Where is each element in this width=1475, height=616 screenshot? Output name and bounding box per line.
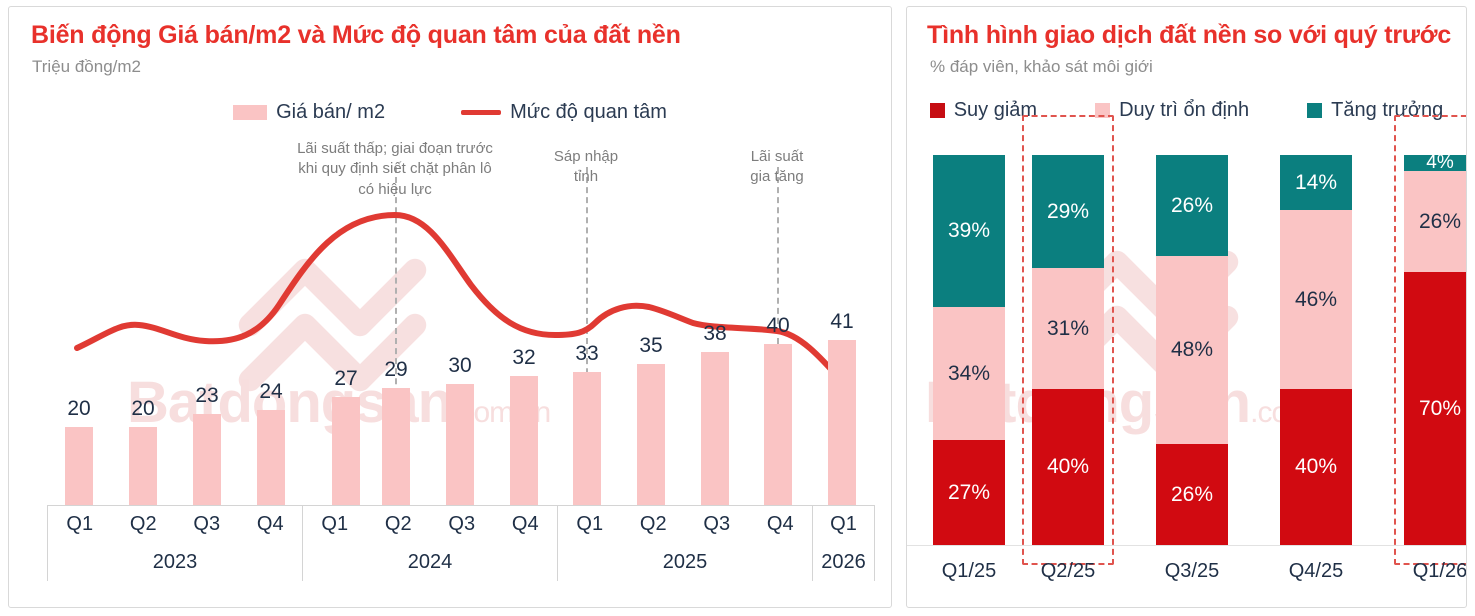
segment-suy-giam-q2-25[interactable]: 40% — [1032, 389, 1104, 545]
bar-q1-2024[interactable] — [332, 397, 360, 505]
year-group-2024: Q1 Q2 Q3 Q4 2024 — [302, 505, 557, 581]
bar-value-q2-2023: 20 — [113, 397, 173, 421]
quarter-label: Q4 — [749, 513, 813, 536]
segment-tang-truong-q4-25[interactable]: 14% — [1280, 155, 1352, 210]
bar-value-q3-2025: 38 — [685, 322, 745, 346]
bar-q4-2023[interactable] — [257, 410, 285, 505]
bar-q4-2024[interactable] — [510, 376, 538, 505]
segment-suy-giam-q1-26[interactable]: 70% — [1404, 272, 1467, 545]
x-label-q2-25: Q2/25 — [1013, 560, 1123, 583]
x-label-q1-25: Q1/25 — [914, 560, 1024, 583]
square-swatch-icon-tang-truong — [1307, 103, 1322, 118]
bar-value-q1-2025: 33 — [557, 342, 617, 366]
right-chart-legend: Suy giảm Duy trì ổn định Tăng trưởng — [907, 99, 1466, 122]
quarter-label: Q1 — [48, 513, 112, 536]
segment-suy-giam-q1-25[interactable]: 27% — [933, 440, 1005, 545]
right-plot-area: 39% 34% 27% 29% 31% 40% 26% 48% 26% 14% … — [907, 135, 1466, 545]
segment-tang-truong-q3-25[interactable]: 26% — [1156, 155, 1228, 256]
stacked-bar-q1-26[interactable]: 4% 26% 70% — [1404, 155, 1467, 545]
quarter-label: Q1 — [813, 513, 874, 536]
bar-value-q3-2023: 23 — [177, 384, 237, 408]
dashboard-root: Biến động Giá bán/m2 và Mức độ quan tâm … — [0, 0, 1475, 616]
year-group-2025: Q1 Q2 Q3 Q4 2025 — [557, 505, 812, 581]
segment-tang-truong-q1-25[interactable]: 39% — [933, 155, 1005, 307]
bar-q3-2025[interactable] — [701, 352, 729, 505]
x-label-q3-25: Q3/25 — [1137, 560, 1247, 583]
bar-q3-2024[interactable] — [446, 384, 474, 505]
segment-duy-tri-q4-25[interactable]: 46% — [1280, 210, 1352, 389]
right-chart-subtitle: % đáp viên, khảo sát môi giới — [930, 57, 1466, 77]
bar-value-q2-2024: 29 — [366, 358, 426, 382]
quarter-label: Q2 — [367, 513, 431, 536]
bar-value-q1-2026: 41 — [812, 310, 872, 334]
quarter-label: Q2 — [112, 513, 176, 536]
quarter-label: Q2 — [622, 513, 686, 536]
square-swatch-icon-suy-giam — [930, 103, 945, 118]
legend-label-duy-tri-on-dinh: Duy trì ổn định — [1119, 99, 1249, 122]
bar-value-q4-2024: 32 — [494, 346, 554, 370]
stacked-bar-q3-25[interactable]: 26% 48% 26% — [1156, 155, 1228, 545]
year-label-2023: 2023 — [48, 544, 302, 582]
bar-q2-2025[interactable] — [637, 364, 665, 505]
bar-q1-2026[interactable] — [828, 340, 856, 505]
segment-tang-truong-q2-25[interactable]: 29% — [1032, 155, 1104, 268]
right-chart-title: Tình hình giao dịch đất nền so với quý t… — [927, 21, 1466, 50]
legend-item-suy-giam[interactable]: Suy giảm — [930, 99, 1037, 122]
legend-item-gia-ban[interactable]: Giá bán/ m2 — [233, 101, 385, 124]
year-group-2023: Q1 Q2 Q3 Q4 2023 — [47, 505, 302, 581]
bar-value-q2-2025: 35 — [621, 334, 681, 358]
quarter-row-2023: Q1 Q2 Q3 Q4 — [48, 506, 302, 544]
year-label-2025: 2025 — [558, 544, 812, 582]
stacked-bar-q4-25[interactable]: 14% 46% 40% — [1280, 155, 1352, 545]
stacked-bar-q2-25[interactable]: 29% 31% 40% — [1032, 155, 1104, 545]
x-label-q4-25: Q4/25 — [1261, 560, 1371, 583]
segment-duy-tri-q1-25[interactable]: 34% — [933, 307, 1005, 440]
bar-q2-2023[interactable] — [129, 427, 157, 505]
quarter-label: Q3 — [685, 513, 749, 536]
quarter-row-2026: Q1 — [813, 506, 874, 544]
quarter-label: Q3 — [175, 513, 239, 536]
line-swatch-icon — [461, 110, 501, 115]
year-group-2026: Q1 2026 — [812, 505, 875, 581]
left-chart-legend: Giá bán/ m2 Mức độ quan tâm — [9, 101, 891, 124]
quarter-row-2025: Q1 Q2 Q3 Q4 — [558, 506, 812, 544]
left-chart-subtitle: Triệu đồng/m2 — [32, 57, 891, 77]
segment-duy-tri-q3-25[interactable]: 48% — [1156, 256, 1228, 444]
left-chart-title: Biến động Giá bán/m2 và Mức độ quan tâm … — [31, 21, 891, 50]
segment-suy-giam-q3-25[interactable]: 26% — [1156, 444, 1228, 545]
stacked-bar-q1-25[interactable]: 39% 34% 27% — [933, 155, 1005, 545]
year-label-2026: 2026 — [813, 544, 874, 582]
left-chart-panel: Biến động Giá bán/m2 và Mức độ quan tâm … — [8, 6, 892, 608]
quarter-label: Q4 — [494, 513, 558, 536]
legend-label-gia-ban: Giá bán/ m2 — [276, 101, 385, 124]
segment-duy-tri-q1-26[interactable]: 26% — [1404, 171, 1467, 272]
left-bars-layer: 20 20 23 24 27 29 30 32 33 35 — [9, 135, 892, 505]
left-plot-area: Lãi suất thấp; giai đoạn trước khi quy đ… — [9, 135, 892, 505]
bar-swatch-icon — [233, 105, 267, 120]
bar-value-q4-2023: 24 — [241, 380, 301, 404]
bar-q3-2023[interactable] — [193, 414, 221, 505]
segment-suy-giam-q4-25[interactable]: 40% — [1280, 389, 1352, 545]
legend-item-muc-do-quan-tam[interactable]: Mức độ quan tâm — [461, 101, 667, 124]
bar-value-q1-2023: 20 — [49, 397, 109, 421]
bar-q1-2023[interactable] — [65, 427, 93, 505]
quarter-label: Q1 — [558, 513, 622, 536]
segment-tang-truong-q1-26[interactable]: 4% — [1404, 155, 1467, 171]
bar-value-q4-2025: 40 — [748, 314, 808, 338]
bar-value-q3-2024: 30 — [430, 354, 490, 378]
bar-q4-2025[interactable] — [764, 344, 792, 505]
right-axis-labels: Q1/25 Q2/25 Q3/25 Q4/25 Q1/26 — [907, 545, 1466, 608]
quarter-label: Q3 — [430, 513, 494, 536]
left-axis-table: Q1 Q2 Q3 Q4 2023 Q1 Q2 Q3 Q4 2024 Q1 — [47, 505, 875, 581]
legend-label-muc-do-quan-tam: Mức độ quan tâm — [510, 101, 667, 124]
year-label-2024: 2024 — [303, 544, 557, 582]
bar-q2-2024[interactable] — [382, 388, 410, 505]
segment-duy-tri-q2-25[interactable]: 31% — [1032, 268, 1104, 389]
legend-item-duy-tri-on-dinh[interactable]: Duy trì ổn định — [1095, 99, 1249, 122]
quarter-row-2024: Q1 Q2 Q3 Q4 — [303, 506, 557, 544]
right-chart-panel: Tình hình giao dịch đất nền so với quý t… — [906, 6, 1467, 608]
x-label-q1-26: Q1/26 — [1385, 560, 1467, 583]
bar-q1-2025[interactable] — [573, 372, 601, 505]
quarter-label: Q4 — [239, 513, 303, 536]
quarter-label: Q1 — [303, 513, 367, 536]
